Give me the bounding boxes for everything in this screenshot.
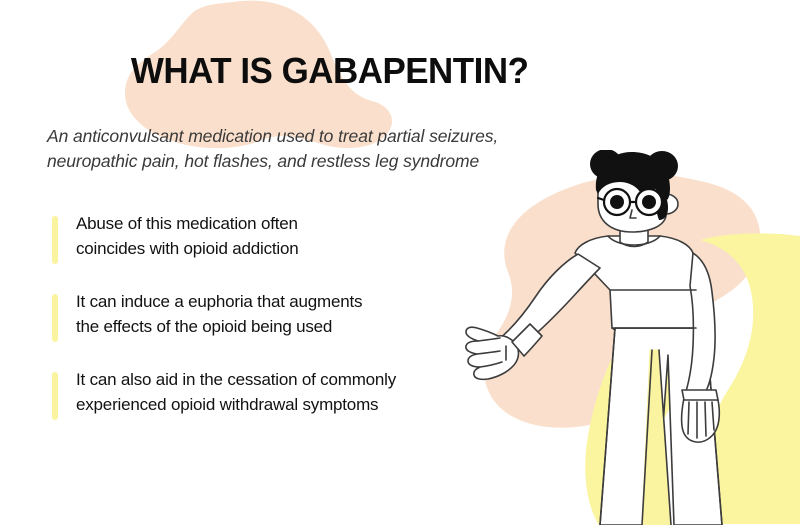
bullet-line-1: Abuse of this medication often (76, 214, 298, 233)
list-item: It can also aid in the cessation of comm… (52, 368, 522, 420)
bullet-marker-bar (52, 294, 58, 342)
hair-bun-right (646, 151, 678, 181)
bullet-line-2: the effects of the opioid being used (76, 315, 522, 340)
bullet-marker-bar (52, 216, 58, 264)
bullet-text: It can induce a euphoria that augments t… (76, 290, 522, 339)
list-item: It can induce a euphoria that augments t… (52, 290, 522, 342)
pointing-person-illustration (460, 150, 800, 525)
page-title: WHAT IS GABAPENTIN? (12, 50, 788, 92)
sweater-body (575, 236, 696, 330)
bullet-line-1: It can also aid in the cessation of comm… (76, 370, 396, 389)
bullet-line-2: experienced opioid withdrawal symptoms (76, 393, 522, 418)
bullet-line-1: It can induce a euphoria that augments (76, 292, 362, 311)
bullet-list: Abuse of this medication often coincides… (52, 212, 522, 446)
eye-right (642, 195, 656, 209)
bullet-text: It can also aid in the cessation of comm… (76, 368, 522, 417)
bullet-text: Abuse of this medication often coincides… (76, 212, 522, 261)
hair-bun-left (590, 150, 622, 179)
list-item: Abuse of this medication often coincides… (52, 212, 522, 264)
infographic-canvas: WHAT IS GABAPENTIN? An anticonvulsant me… (0, 0, 800, 525)
bullet-marker-bar (52, 372, 58, 420)
right-cuff (682, 390, 718, 400)
bullet-line-2: coincides with opioid addiction (76, 237, 522, 262)
subtitle-line-1: An anticonvulsant medication used to tre… (47, 126, 498, 146)
eye-left (610, 195, 624, 209)
